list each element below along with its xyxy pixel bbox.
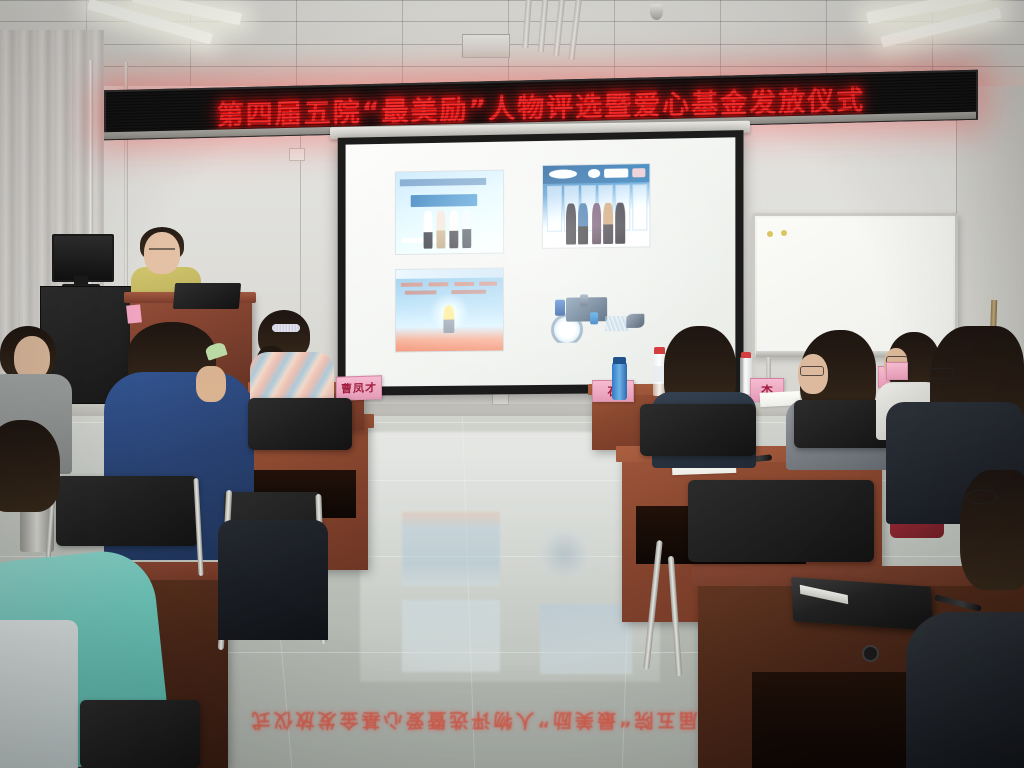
chair-left-floral bbox=[248, 398, 352, 450]
placard-far-right-pink bbox=[886, 362, 908, 380]
presenter-glasses bbox=[149, 248, 175, 256]
slide-image-stage-presentation bbox=[395, 267, 504, 352]
placard-cao-feng-cai-text: 曹凤才 bbox=[341, 379, 377, 396]
pink-paper-podium bbox=[126, 304, 142, 323]
slide-image-booth-group-photo bbox=[542, 163, 650, 249]
ceiling-pipe-3 bbox=[553, 0, 565, 56]
slide-image-wheelchair bbox=[542, 288, 650, 343]
ceiling-pipe-1 bbox=[522, 0, 531, 48]
blue-thermos bbox=[612, 362, 627, 400]
av-monitor bbox=[52, 234, 114, 282]
floor-reflection-slide-c bbox=[402, 512, 500, 586]
conference-room-photo: 第四届五院“最美励”人物评选暨爱心基金发放仪式 bbox=[0, 0, 1024, 768]
chair-right-foreground bbox=[688, 480, 874, 562]
magnet-icon-2 bbox=[781, 230, 787, 236]
ceiling-pipe-4 bbox=[568, 0, 581, 60]
bottle-cap-right-2 bbox=[741, 352, 751, 358]
attendee-glasses bbox=[800, 366, 824, 376]
attendee-bottom-right-glasses bbox=[966, 490, 998, 504]
thermos-cap bbox=[613, 357, 626, 364]
slide-image-award-ceremony bbox=[395, 170, 504, 255]
floor-banner-reflection-text: 第四届五院“最美励”人物评选暨爱心基金发放仪式 bbox=[345, 705, 645, 739]
floor-reflection-slide-a bbox=[402, 600, 500, 672]
attendee-right-glasses bbox=[928, 368, 954, 379]
attendee-teal-lap bbox=[0, 620, 78, 768]
floor-reflection-slide-b bbox=[540, 604, 632, 674]
presenter-head bbox=[144, 232, 180, 274]
chair-left-blue bbox=[56, 476, 198, 546]
presenter-laptop bbox=[173, 283, 241, 309]
bottle-cap-right-1 bbox=[654, 347, 665, 354]
magnet-icon bbox=[767, 231, 773, 237]
floor-reflection-slide-d bbox=[540, 528, 610, 576]
chair-bottom-left bbox=[80, 700, 200, 768]
attendee-blue-shirt-hand bbox=[196, 366, 226, 402]
binder-ring-hole bbox=[862, 645, 879, 662]
placard-cao-feng-cai: 曹凤才 bbox=[336, 375, 382, 401]
chair-right-1 bbox=[640, 404, 756, 456]
wall-outlet bbox=[289, 148, 305, 161]
hair-accessory bbox=[272, 324, 300, 332]
sprinkler-head bbox=[650, 4, 663, 20]
